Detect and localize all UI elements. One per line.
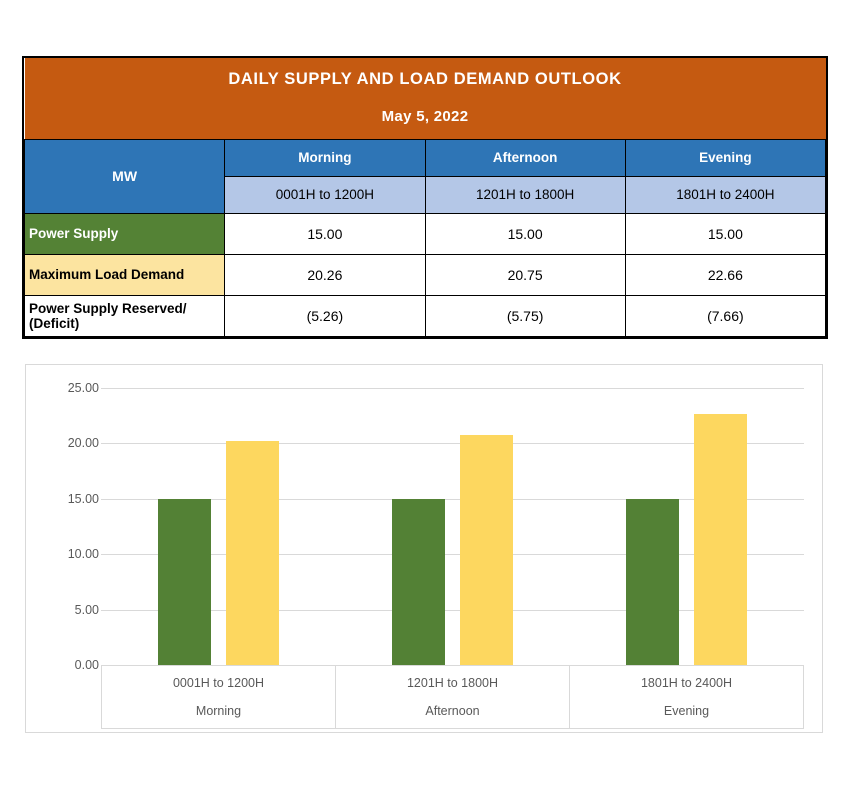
cell-max-load-demand-afternoon: 20.75 xyxy=(425,254,625,295)
banner-cell: DAILY SUPPLY AND LOAD DEMAND OUTLOOK May… xyxy=(25,58,826,139)
period-header-morning: Morning xyxy=(225,139,425,176)
period-header-afternoon: Afternoon xyxy=(425,139,625,176)
chart-x-axis: 0001H to 1200HMorning1201H to 1800HAfter… xyxy=(101,665,804,729)
report-date: May 5, 2022 xyxy=(25,108,826,125)
chart-x-group: 1201H to 1800HAfternoon xyxy=(336,666,570,728)
cell-reserved-afternoon: (5.75) xyxy=(425,295,625,336)
hours-header-afternoon: 1201H to 1800H xyxy=(425,176,625,213)
chart-bar xyxy=(460,435,513,665)
chart-x-group: 1801H to 2400HEvening xyxy=(570,666,803,728)
chart-x-tick-period: Morning xyxy=(196,704,241,718)
chart-x-tick-hours: 1201H to 1800H xyxy=(407,676,498,690)
table-row: Power Supply 15.00 15.00 15.00 xyxy=(25,213,826,254)
chart-x-tick-hours: 0001H to 1200H xyxy=(173,676,264,690)
chart-y-tick-label: 20.00 xyxy=(35,436,99,450)
chart-x-group: 0001H to 1200HMorning xyxy=(102,666,336,728)
hours-header-evening: 1801H to 2400H xyxy=(625,176,825,213)
chart-y-tick-label: 10.00 xyxy=(35,547,99,561)
table-header-row-periods: MW Morning Afternoon Evening xyxy=(25,139,826,176)
chart-bar xyxy=(392,499,445,665)
chart-bar xyxy=(626,499,679,665)
cell-reserved-evening: (7.66) xyxy=(625,295,825,336)
cell-max-load-demand-evening: 22.66 xyxy=(625,254,825,295)
cell-power-supply-afternoon: 15.00 xyxy=(425,213,625,254)
row-label-power-supply: Power Supply xyxy=(25,213,225,254)
chart-gridline xyxy=(101,388,804,389)
chart-bar xyxy=(694,414,747,665)
supply-demand-table: DAILY SUPPLY AND LOAD DEMAND OUTLOOK May… xyxy=(22,56,828,339)
chart-plot-area: 0.005.0010.0015.0020.0025.00 xyxy=(101,388,804,665)
chart-bar xyxy=(158,499,211,665)
row-label-max-load-demand: Maximum Load Demand xyxy=(25,254,225,295)
table-row: Power Supply Reserved/ (Deficit) (5.26) … xyxy=(25,295,826,336)
cell-power-supply-evening: 15.00 xyxy=(625,213,825,254)
chart-x-tick-period: Afternoon xyxy=(425,704,479,718)
chart-y-tick-label: 15.00 xyxy=(35,492,99,506)
chart-bar xyxy=(226,441,279,665)
hours-header-morning: 0001H to 1200H xyxy=(225,176,425,213)
cell-max-load-demand-morning: 20.26 xyxy=(225,254,425,295)
period-header-evening: Evening xyxy=(625,139,825,176)
page-title: DAILY SUPPLY AND LOAD DEMAND OUTLOOK xyxy=(25,70,826,90)
table-banner-row: DAILY SUPPLY AND LOAD DEMAND OUTLOOK May… xyxy=(25,58,826,139)
table-row: Maximum Load Demand 20.26 20.75 22.66 xyxy=(25,254,826,295)
chart-x-tick-period: Evening xyxy=(664,704,709,718)
chart-y-tick-label: 25.00 xyxy=(35,381,99,395)
supply-demand-bar-chart: 0.005.0010.0015.0020.0025.00 0001H to 12… xyxy=(25,364,823,733)
unit-header-cell: MW xyxy=(25,139,225,213)
row-label-power-supply-reserved: Power Supply Reserved/ (Deficit) xyxy=(25,295,225,336)
cell-power-supply-morning: 15.00 xyxy=(225,213,425,254)
chart-y-tick-label: 0.00 xyxy=(35,658,99,672)
chart-x-tick-hours: 1801H to 2400H xyxy=(641,676,732,690)
cell-reserved-morning: (5.26) xyxy=(225,295,425,336)
chart-y-tick-label: 5.00 xyxy=(35,603,99,617)
